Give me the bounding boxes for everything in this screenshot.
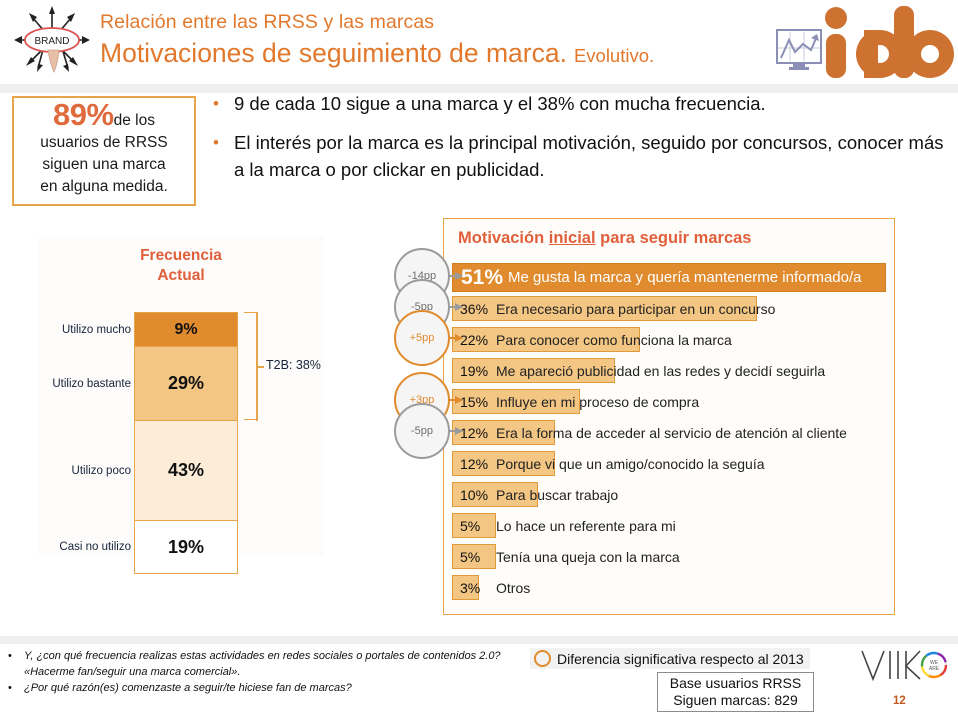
motivation-bar-row: 19%Me apareció publicidad en las redes y…	[452, 355, 894, 386]
motivation-bar-list: 51%Me gusta la marca y quería mantenerme…	[452, 262, 894, 603]
motivation-bar-value: 5%	[452, 518, 496, 534]
slide-canvas: BRAND Relación entre las RRSS y las marc…	[0, 0, 958, 717]
footnote-item: • ¿Por qué razón(es) comenzaste a seguir…	[8, 680, 528, 696]
stack-segment-label: Utilizo bastante	[52, 378, 131, 390]
footer-divider	[0, 636, 958, 644]
motivation-bar-label: Me gusta la marca y quería mantenerme in…	[508, 269, 862, 286]
right-chart-title-pre: Motivación	[458, 229, 549, 247]
motivation-bar-label: Para buscar trabajo	[496, 487, 618, 503]
left-chart-title: Frecuencia Actual	[38, 246, 324, 286]
motivation-bar-row: 12%Era la forma de acceder al servicio d…	[452, 417, 894, 448]
svg-text:ARE: ARE	[929, 666, 940, 672]
motivation-bar-label: Era necesario para participar en un conc…	[496, 301, 775, 317]
motivation-bar-row: 5%Lo hace un referente para mi	[452, 510, 894, 541]
header-title-block: Relación entre las RRSS y las marcas Mot…	[100, 10, 760, 71]
bullet-item: • El interés por la marca es la principa…	[208, 129, 948, 183]
footnote-text: Y, ¿con qué frecuencia realizas estas ac…	[24, 648, 528, 680]
base-info-box: Base usuarios RRSS Siguen marcas: 829	[657, 672, 814, 712]
header-title-suffix: Evolutivo.	[574, 41, 654, 71]
delta-badge: +5pp	[394, 310, 450, 366]
motivation-bar-label: Tenía una queja con la marca	[496, 549, 680, 565]
page-title: Motivaciones de seguimiento de marca.	[100, 36, 567, 70]
bullet-text: 9 de cada 10 sigue a una marca y el 38% …	[234, 90, 766, 117]
iab-logo	[818, 2, 958, 80]
footnotes: • Y, ¿con qué frecuencia realizas estas …	[8, 648, 528, 696]
base-line-2: Siguen marcas: 829	[673, 692, 798, 709]
motivation-bar-label: Influye en mi proceso de compra	[496, 394, 699, 410]
stack-segment-value: 9%	[174, 321, 197, 339]
stack-segment: Utilizo mucho9%	[135, 313, 237, 347]
legend-circle-icon	[534, 650, 551, 667]
motivation-bar-label: Me apareció publicidad en las redes y de…	[496, 363, 825, 379]
motivation-bar-row: 5%Tenía una queja con la marca	[452, 541, 894, 572]
stack-segment-value: 43%	[168, 460, 204, 481]
stack-segment-value: 29%	[168, 373, 204, 394]
motivation-bar-row: 51%Me gusta la marca y quería mantenerme…	[452, 262, 894, 293]
viko-logo: WE ARE	[860, 645, 950, 685]
t2b-bracket-icon	[244, 312, 258, 420]
stack-segment: Utilizo bastante29%	[135, 347, 237, 421]
stack-segment: Casi no utilizo19%	[135, 521, 237, 573]
callout-percent: 89%	[53, 97, 114, 132]
t2b-label: T2B: 38%	[266, 358, 321, 372]
motivation-bar-label: Lo hace un referente para mi	[496, 518, 676, 534]
motivation-bar-value: 19%	[452, 363, 496, 379]
motivacion-inicial-chart: Motivación inicial para seguir marcas 51…	[443, 218, 895, 615]
motivation-bar-row: 22%Para conocer como funciona la marca	[452, 324, 894, 355]
footnote-text: ¿Por qué razón(es) comenzaste a seguir/t…	[24, 680, 352, 696]
motivation-bar-label: Otros	[496, 580, 530, 596]
svg-text:BRAND: BRAND	[34, 36, 69, 47]
left-chart-title-line1: Frecuencia	[140, 247, 222, 264]
bullet-item: • 9 de cada 10 sigue a una marca y el 38…	[208, 90, 948, 117]
footnote-item: • Y, ¿con qué frecuencia realizas estas …	[8, 648, 528, 680]
stacked-bar-column: Utilizo mucho9%Utilizo bastante29%Utiliz…	[134, 312, 238, 574]
footnote-dot-icon: •	[8, 680, 24, 696]
bullet-text: El interés por la marca es la principal …	[234, 129, 948, 183]
motivation-bar-row: 3%Otros	[452, 572, 894, 603]
slide-header: BRAND Relación entre las RRSS y las marc…	[0, 0, 958, 84]
bullet-dot-icon: •	[208, 90, 234, 117]
right-chart-title: Motivación inicial para seguir marcas	[458, 229, 751, 248]
stack-segment-label: Casi no utilizo	[59, 541, 131, 553]
brand-hand-arrows-icon: BRAND	[8, 4, 96, 80]
frecuencia-actual-chart: Frecuencia Actual Utilizo mucho9%Utilizo…	[38, 236, 324, 556]
summary-bullets: • 9 de cada 10 sigue a una marca y el 38…	[208, 90, 948, 195]
motivation-bar-value: 5%	[452, 549, 496, 565]
stack-segment-value: 19%	[168, 537, 204, 558]
callout-lead: de los	[114, 112, 155, 129]
motivation-bar-row: 10%Para buscar trabajo	[452, 479, 894, 510]
right-chart-title-post: para seguir marcas	[596, 229, 752, 247]
stack-segment-label: Utilizo poco	[72, 465, 131, 477]
motivation-bar-value: 3%	[452, 580, 496, 596]
motivation-bar-value: 10%	[452, 487, 496, 503]
header-subtitle: Relación entre las RRSS y las marcas	[100, 10, 760, 35]
stack-segment-label: Utilizo mucho	[62, 324, 131, 336]
callout-line-2: siguen una marca	[22, 154, 186, 176]
callout-line-1: usuarios de RRSS	[22, 132, 186, 154]
base-line-1: Base usuarios RRSS	[670, 675, 802, 692]
motivation-bar-label: Era la forma de acceder al servicio de a…	[496, 425, 847, 441]
left-chart-title-line2: Actual	[157, 267, 204, 284]
footnote-dot-icon: •	[8, 648, 24, 680]
motivation-bar-label: Porque vi que un amigo/conocido la seguí…	[496, 456, 765, 472]
legend-significant-difference: Diferencia significativa respecto al 201…	[530, 648, 810, 669]
bullet-dot-icon: •	[208, 129, 234, 183]
callout-89-percent: 89%de los usuarios de RRSS siguen una ma…	[12, 96, 196, 206]
motivation-bar-label: Para conocer como funciona la marca	[496, 332, 732, 348]
page-number: 12	[893, 695, 906, 707]
legend-label: Diferencia significativa respecto al 201…	[557, 651, 804, 667]
right-chart-title-underline: inicial	[549, 229, 596, 247]
delta-badge: -5pp	[394, 403, 450, 459]
motivation-bar-row: 12%Porque vi que un amigo/conocido la se…	[452, 448, 894, 479]
motivation-bar-value: 12%	[452, 456, 496, 472]
motivation-bar-row: 15%Influye en mi proceso de compra	[452, 386, 894, 417]
stack-segment: Utilizo poco43%	[135, 421, 237, 521]
callout-line-3: en alguna medida.	[22, 176, 186, 198]
motivation-bar-row: 36%Era necesario para participar en un c…	[452, 293, 894, 324]
